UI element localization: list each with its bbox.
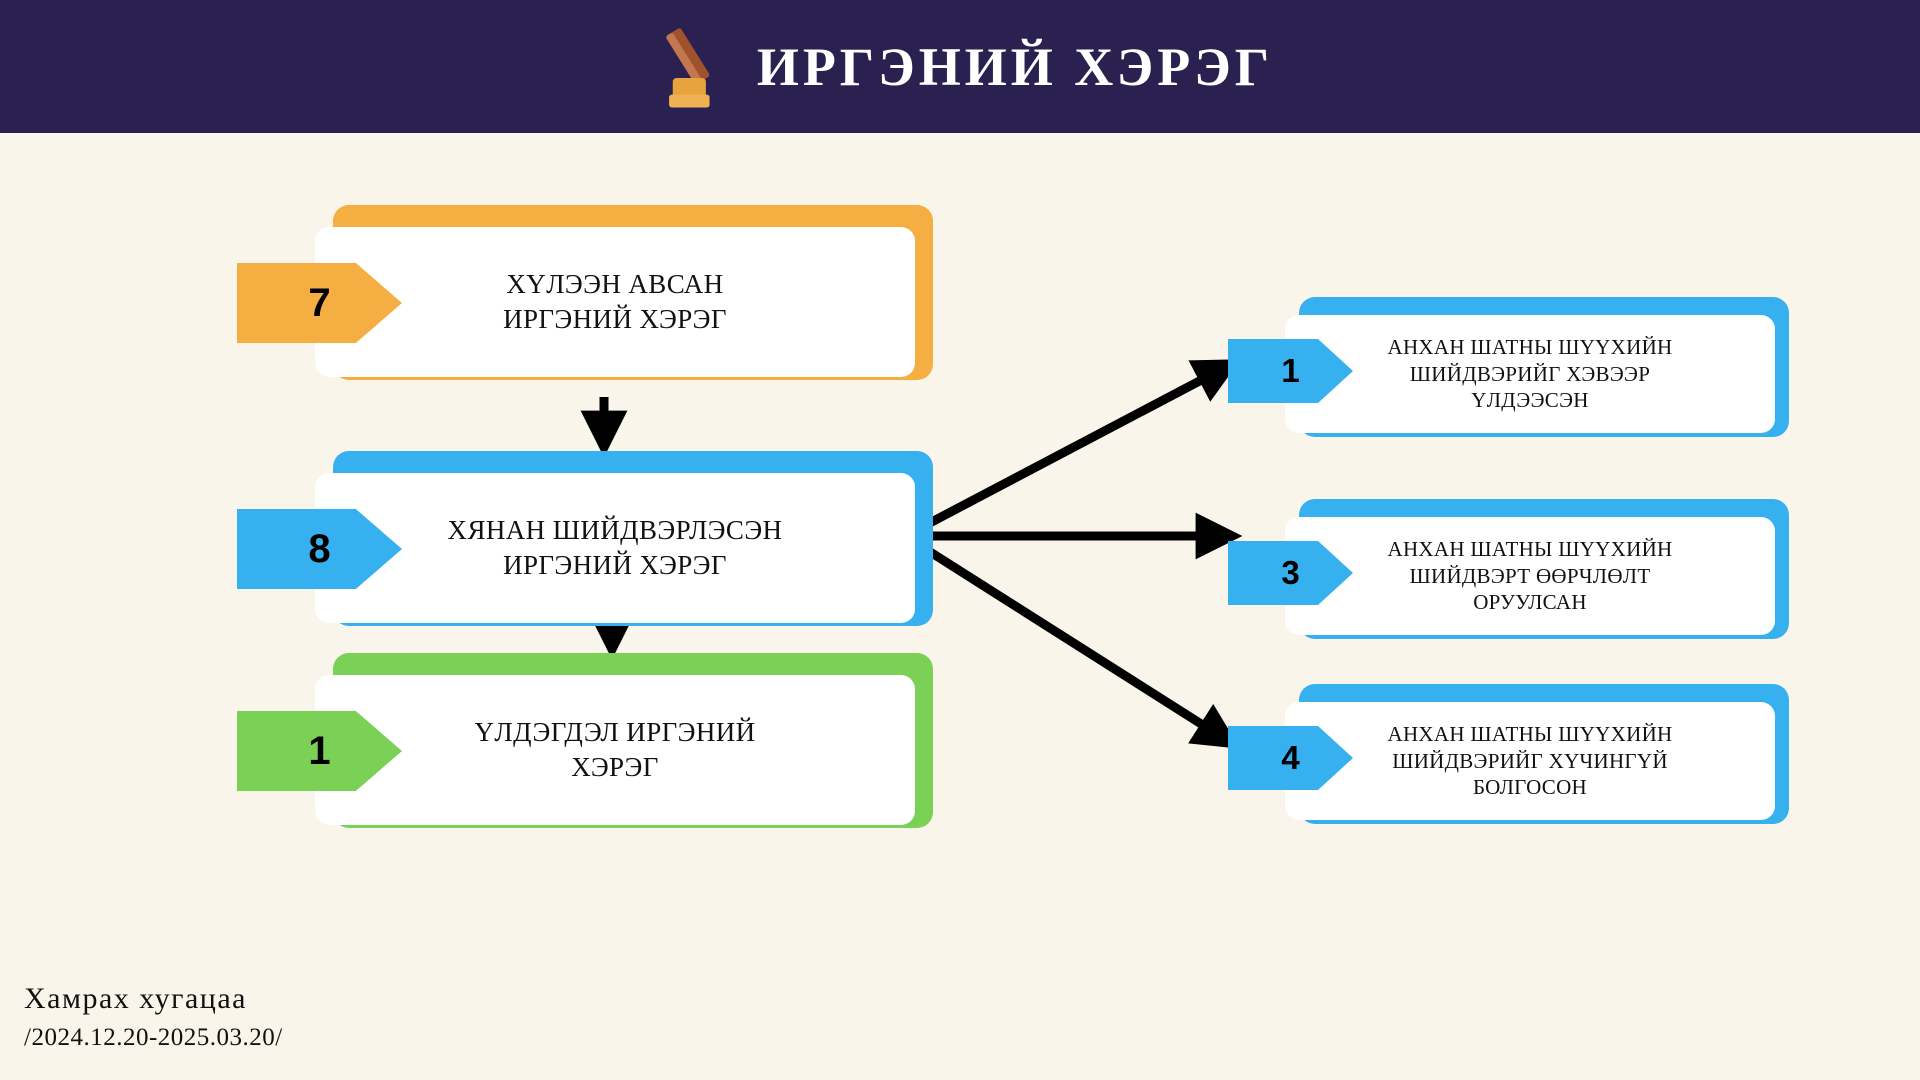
card-label: АНХАН ШАТНЫ ШҮҮХИЙН ШИЙДВЭРТ ӨӨРЧЛӨЛТ ОР… — [1373, 536, 1686, 617]
card-label: АНХАН ШАТНЫ ШҮҮХИЙН ШИЙДВЭРИЙГ ХҮЧИНГҮЙ … — [1373, 721, 1686, 802]
flow-card-received[interactable]: ХҮЛЭЭН АВСАН ИРГЭНИЙ ХЭРЭГ 7 — [315, 205, 935, 385]
outcome-card-overturned[interactable]: АНХАН ШАТНЫ ШҮҮХИЙН ШИЙДВЭРИЙГ ХҮЧИНГҮЙ … — [1285, 684, 1795, 829]
flow-card-resolved[interactable]: ХЯНАН ШИЙДВЭРЛЭСЭН ИРГЭНИЙ ХЭРЭГ 8 — [315, 451, 935, 631]
card-label: ХҮЛЭЭН АВСАН ИРГЭНИЙ ХЭРЭГ — [489, 267, 741, 336]
card-body: АНХАН ШАТНЫ ШҮҮХИЙН ШИЙДВЭРТ ӨӨРЧЛӨЛТ ОР… — [1285, 517, 1775, 635]
gavel-icon — [647, 21, 739, 113]
arrow-to-outcome-overturned — [905, 536, 1228, 741]
diagram-canvas: ХҮЛЭЭН АВСАН ИРГЭНИЙ ХЭРЭГ 7 ХЯНАН ШИЙДВ… — [0, 133, 1920, 1080]
page-header: ИРГЭНИЙ ХЭРЭГ — [0, 0, 1920, 133]
outcome-card-amended[interactable]: АНХАН ШАТНЫ ШҮҮХИЙН ШИЙДВЭРТ ӨӨРЧЛӨЛТ ОР… — [1285, 499, 1795, 644]
arrow-to-outcome-upheld — [905, 366, 1228, 536]
outcome-card-upheld[interactable]: АНХАН ШАТНЫ ШҮҮХИЙН ШИЙДВЭРИЙГ ХЭВЭЭР ҮЛ… — [1285, 297, 1795, 442]
card-body: ҮЛДЭГДЭЛ ИРГЭНИЙ ХЭРЭГ — [315, 675, 915, 825]
card-body: АНХАН ШАТНЫ ШҮҮХИЙН ШИЙДВЭРИЙГ ХҮЧИНГҮЙ … — [1285, 702, 1775, 820]
flow-card-remaining[interactable]: ҮЛДЭГДЭЛ ИРГЭНИЙ ХЭРЭГ 1 — [315, 653, 935, 833]
card-label: ҮЛДЭГДЭЛ ИРГЭНИЙ ХЭРЭГ — [460, 715, 769, 784]
period-caption: Хамрах хугацаа /2024.12.20-2025.03.20/ — [24, 982, 283, 1052]
period-caption-range: /2024.12.20-2025.03.20/ — [24, 1024, 283, 1052]
card-label: АНХАН ШАТНЫ ШҮҮХИЙН ШИЙДВЭРИЙГ ХЭВЭЭР ҮЛ… — [1373, 334, 1686, 415]
card-body: АНХАН ШАТНЫ ШҮҮХИЙН ШИЙДВЭРИЙГ ХЭВЭЭР ҮЛ… — [1285, 315, 1775, 433]
card-label: ХЯНАН ШИЙДВЭРЛЭСЭН ИРГЭНИЙ ХЭРЭГ — [434, 513, 797, 582]
card-body: ХЯНАН ШИЙДВЭРЛЭСЭН ИРГЭНИЙ ХЭРЭГ — [315, 473, 915, 623]
card-body: ХҮЛЭЭН АВСАН ИРГЭНИЙ ХЭРЭГ — [315, 227, 915, 377]
page-title: ИРГЭНИЙ ХЭРЭГ — [757, 40, 1273, 94]
period-caption-title: Хамрах хугацаа — [24, 982, 283, 1016]
